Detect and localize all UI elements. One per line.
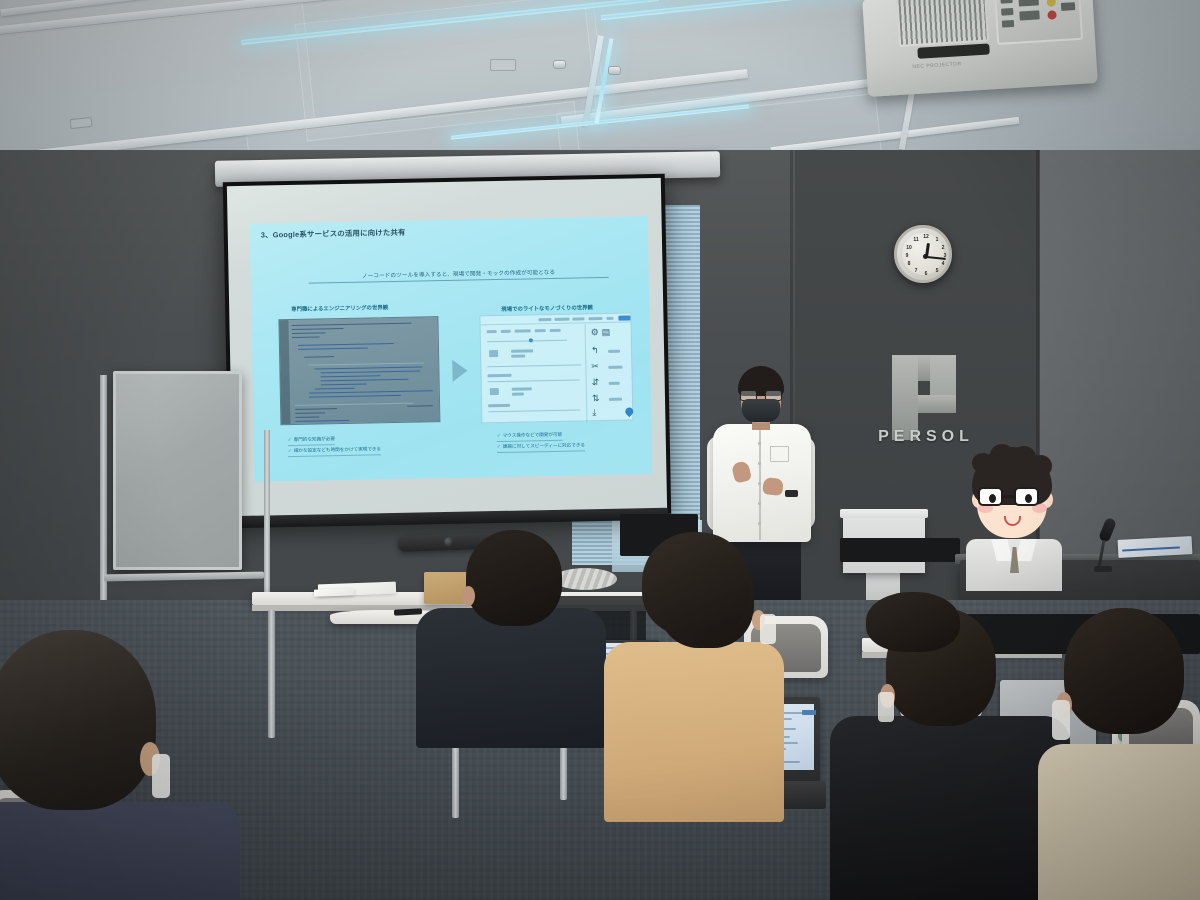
wall-clock: 12 1 2 3 4 5 6 7 8 9 10 11 <box>894 225 952 283</box>
slide-bullets-right: ✓マウス操作などで開発が可能 ✓課題に対してスピーディーに対応できる <box>497 430 585 454</box>
person-head <box>642 532 750 636</box>
clock-numeral: 12 <box>922 234 930 240</box>
clock-numeral: 9 <box>903 253 911 259</box>
slide-column-heading-right: 現場でのライトなモノづくりの世界観 <box>501 303 593 313</box>
person-torso <box>0 802 240 900</box>
clock-numeral: 6 <box>922 271 930 277</box>
person-torso <box>604 642 784 822</box>
face-mask-strap <box>1052 700 1070 740</box>
slide-column-heading-left: 専門職によるエンジニアリングの世界観 <box>291 303 388 313</box>
table-paper <box>314 588 354 596</box>
clock-face: 12 1 2 3 4 5 6 7 8 9 10 11 <box>902 233 944 275</box>
face-mask-strap <box>760 614 776 644</box>
bullet-text: 課題に対してスピーディーに対応できる <box>503 442 585 449</box>
anonymized-person-avatar <box>966 447 1058 555</box>
avatar-eye <box>1025 494 1032 503</box>
person-ear <box>462 586 475 606</box>
glasses-lens <box>978 487 1003 506</box>
presenter-hand <box>762 477 784 496</box>
face-mask-strap <box>878 692 894 722</box>
cable-coil <box>553 568 617 590</box>
podium-top-surface <box>840 509 928 518</box>
clock-center-pin <box>923 254 928 259</box>
slide-code-editor-image <box>278 316 440 425</box>
avatar-glasses-icon <box>978 487 1046 507</box>
slide-arrow-icon <box>452 360 467 382</box>
avatar-eyebrow <box>1022 480 1041 483</box>
back-counter <box>840 538 960 562</box>
microphone-base <box>1094 566 1112 572</box>
person-head <box>466 530 562 626</box>
person-torso <box>1038 744 1200 900</box>
persol-wordmark: PERSOL <box>876 428 976 446</box>
avatar-hair-curl <box>1030 455 1052 477</box>
slide-subtitle: ノーコードのツールを導入すると、現場で開発・モックの作成が可能となる <box>309 267 609 284</box>
ceiling-projector: NEC PROJECTOR <box>862 0 1098 97</box>
clock-numeral: 11 <box>912 237 920 243</box>
projector-vent-grille <box>896 0 989 47</box>
clock-numeral: 1 <box>933 237 941 243</box>
person-head <box>0 630 156 810</box>
avatar-eye <box>989 494 996 503</box>
avatar-hair-curl <box>990 444 1014 466</box>
projector-label: NEC PROJECTOR <box>912 61 961 70</box>
clock-numeral: 8 <box>905 261 913 267</box>
slide-nocode-app-image: ⚙ ▤ ↰ ✂ ⇵ ⇅ ⤓ <box>479 312 633 423</box>
face-mask-strap <box>152 754 170 798</box>
projection-screen: 3、Google系サービスの活用に向けた共有 ノーコードのツールを導入すると、現… <box>223 174 671 522</box>
person-head <box>1064 608 1184 734</box>
clock-numeral: 2 <box>939 245 947 251</box>
code-gutter <box>279 320 290 424</box>
sprinkler-head <box>553 60 566 69</box>
wristwatch <box>785 490 798 497</box>
person-torso <box>416 608 606 748</box>
check-icon: ✓ <box>288 448 292 453</box>
bullet-text: 専門的な知識が必要 <box>294 436 335 442</box>
screen-surface: 3、Google系サービスの活用に向けた共有 ノーコードのツールを導入すると、現… <box>227 178 667 518</box>
table-leg <box>268 610 275 738</box>
bullet-text: 細かな設定なども時間をかけて実現できる <box>294 446 381 453</box>
sprinkler-head <box>608 66 621 75</box>
slide-title: 3、Google系サービスの活用に向けた共有 <box>261 227 406 241</box>
glasses-bridge <box>1003 495 1014 498</box>
projector-lens <box>917 43 990 58</box>
glasses-lens <box>1014 487 1039 506</box>
camera-lens-icon <box>444 537 454 547</box>
person-torso <box>830 716 1070 900</box>
clock-numeral: 10 <box>905 245 913 251</box>
app-mock-icon-panel: ⚙ ▤ ↰ ✂ ⇵ ⇅ ⤓ <box>585 323 635 422</box>
slide-bullets-left: ✓専門的な知識が必要 ✓細かな設定なども時間をかけて実現できる <box>288 434 381 458</box>
person-head <box>866 592 960 652</box>
check-icon: ✓ <box>497 444 501 449</box>
whiteboard <box>113 371 242 570</box>
seminar-room-photo: NEC PROJECTOR 3、Google系サービスの活用に向けた共有 ノーコ… <box>0 0 1200 900</box>
avatar-eyebrow <box>982 480 1001 483</box>
clock-numeral: 5 <box>933 268 941 274</box>
clock-numeral: 4 <box>939 261 947 267</box>
check-icon: ✓ <box>497 433 501 438</box>
check-icon: ✓ <box>288 437 292 442</box>
ceiling-vent <box>490 59 516 71</box>
face-mask <box>742 399 780 422</box>
map-pin-icon <box>624 406 635 417</box>
presenter-shirt <box>713 424 811 542</box>
shirt-pocket <box>770 446 789 462</box>
bullet-text: マウス操作などで開発が可能 <box>503 432 563 438</box>
clock-numeral: 7 <box>912 268 920 274</box>
presentation-slide: 3、Google系サービスの活用に向けた共有 ノーコードのツールを導入すると、現… <box>250 216 653 482</box>
